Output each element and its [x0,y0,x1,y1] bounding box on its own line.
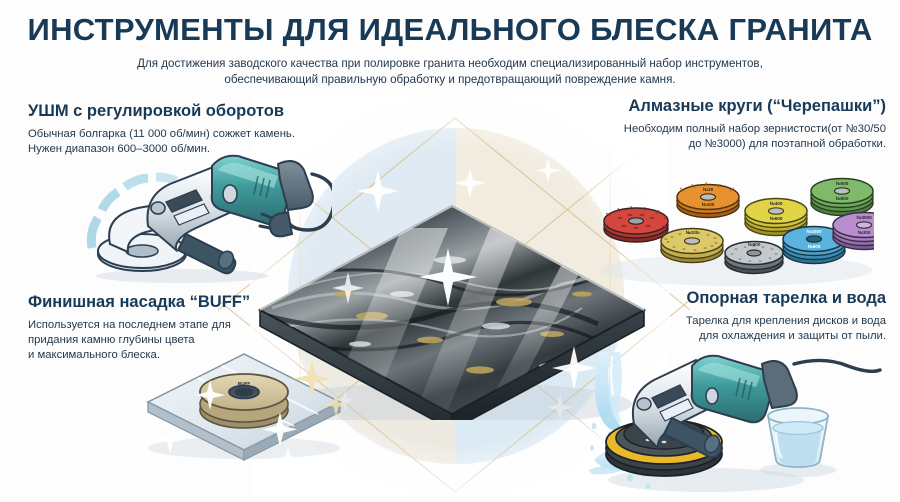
callout-diamond-discs-line-1: Необходим полный набор зернистости(от №3… [560,122,886,137]
bucket-water-surface [773,422,823,435]
subtitle-line-1: Для достижения заводского качества при п… [110,56,790,72]
water-grinder-switch [706,388,718,404]
disc-red [604,206,668,242]
disc-yellow-label-bottom: №600 [770,216,783,221]
disc-purple-label-bottom: №300 [858,230,871,235]
callout-diamond-discs-line-2: до №3000) для поэтапной обработки. [560,137,886,152]
water-stream [595,352,626,432]
water-grinder-cord [794,360,880,371]
page-subtitle: Для достижения заводского качества при п… [110,56,790,88]
disc-blue-label-bottom: №800 [808,244,821,249]
disc-orange-label-top: №30 [703,187,714,192]
callout-angle-grinder-line-1: Обычная болгарка (11 000 об/мин) сожжет … [28,127,358,142]
disc-purple: №3000 №300 [833,213,874,250]
callout-diamond-discs-body: Необходим полный набор зернистости(от №3… [560,122,886,152]
callout-diamond-discs: Алмазные круги (“Черепашки”) Необходим п… [560,96,886,152]
grinder-switch [223,185,237,203]
disc-orange-label-bottom: №100 [702,202,715,207]
disc-sand: №100 [661,229,723,263]
diamond-discs-illustration: №30 №100 №400 №600 №000 №500 [596,158,874,290]
disc-green-label-top: №000 [836,181,849,186]
disc-sand-label: №100 [686,230,699,235]
disc-purple-label-top: №3000 [856,215,872,220]
infographic-poster: ИНСТРУМЕНТЫ ДЛЯ ИДЕАЛЬНОГО БЛЕСКА ГРАНИТ… [0,0,900,502]
water-grinder-illustration [586,352,886,502]
disc-yellow-label-top: №400 [770,201,783,206]
grinder-side-handle [178,234,236,273]
disc-green-label-bottom: №500 [836,196,849,201]
callout-angle-grinder-heading: УШМ с регулировкой оборотов [28,101,358,121]
buff-pad-illustration: BUFF [136,336,352,462]
buff-pad: BUFF [200,374,288,428]
subtitle-line-2: обеспечивающий правильную обработку и пр… [110,72,790,88]
water-bucket [768,408,828,467]
disc-orange: №30 №100 [677,182,739,218]
disc-grey: №800 [725,242,783,274]
buff-pad-label: BUFF [238,381,250,386]
disc-green: №000 №500 [811,179,873,216]
disc-blue-label-top: №1500 [806,229,822,234]
page-title: ИНСТРУМЕНТЫ ДЛЯ ИДЕАЛЬНОГО БЛЕСКА ГРАНИТ… [0,12,900,48]
disc-grey-label: №800 [748,242,761,247]
callout-diamond-discs-heading: Алмазные круги (“Черепашки”) [560,96,886,116]
